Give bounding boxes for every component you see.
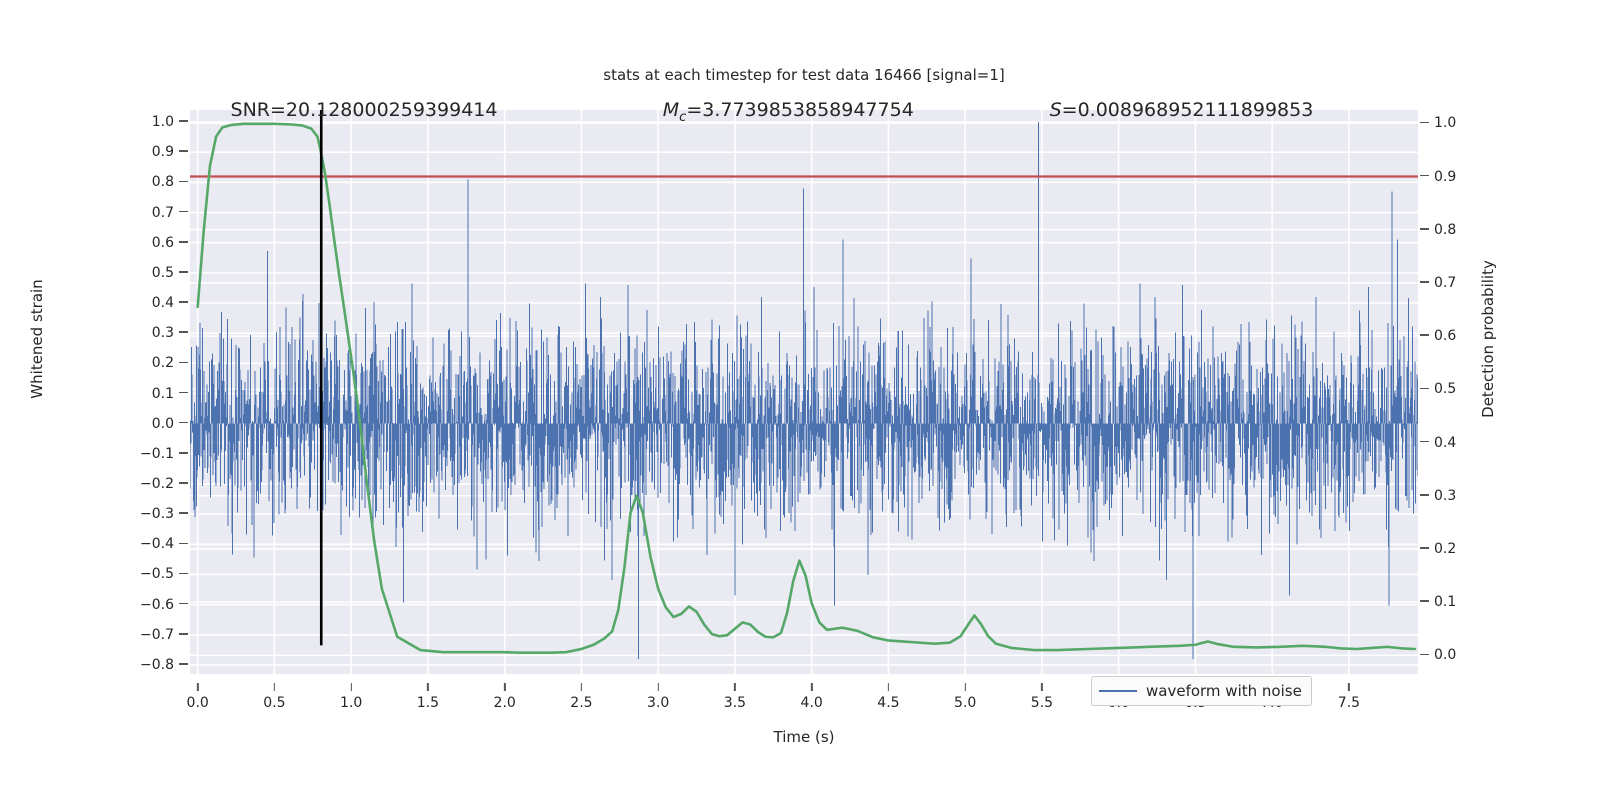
x-tick-5: 2.5: [570, 683, 592, 711]
y-tick-right-8: 0.2: [1420, 541, 1456, 557]
series-waveform-with-noise: [190, 122, 1418, 659]
y-axis-label-right: Detection probability: [1479, 239, 1497, 439]
x-tick-0: 0.0: [187, 683, 209, 711]
y-tick-right-3: 0.7: [1420, 275, 1456, 291]
annotation-snr: SNR=20.128000259399414: [231, 99, 498, 121]
x-tick-10: 5.0: [954, 683, 976, 711]
x-axis-label: Time (s): [190, 728, 1418, 746]
y-tick-right-9: 0.1: [1420, 594, 1456, 610]
x-tick-15: 7.5: [1338, 683, 1360, 711]
y-tick-left-1: 0.9: [152, 144, 188, 160]
y-tick-right-2: 0.8: [1420, 222, 1456, 238]
y-tick-left-18: −0.8: [140, 657, 188, 673]
x-tick-4: 2.0: [494, 683, 516, 711]
y-tick-left-15: −0.5: [140, 566, 188, 582]
x-tick-7: 3.5: [724, 683, 746, 711]
y-tick-left-16: −0.6: [140, 597, 188, 613]
x-tick-1: 0.5: [263, 683, 285, 711]
y-tick-left-6: 0.4: [152, 295, 188, 311]
figure: stats at each timestep for test data 164…: [0, 0, 1600, 800]
legend-swatch-waveform: [1099, 690, 1137, 693]
y-tick-left-4: 0.6: [152, 235, 188, 251]
y-tick-left-14: −0.4: [140, 536, 188, 552]
x-tick-2: 1.0: [340, 683, 362, 711]
y-tick-right-4: 0.6: [1420, 328, 1456, 344]
y-tick-left-10: 0.0: [152, 416, 188, 432]
plot-area: [190, 110, 1418, 674]
x-tick-3: 1.5: [417, 683, 439, 711]
y-tick-right-6: 0.4: [1420, 435, 1456, 451]
y-tick-left-8: 0.2: [152, 355, 188, 371]
x-tick-11: 5.5: [1031, 683, 1053, 711]
y-tick-left-0: 1.0: [152, 114, 188, 130]
y-tick-left-12: −0.2: [140, 476, 188, 492]
x-tick-9: 4.5: [877, 683, 899, 711]
y-tick-left-7: 0.3: [152, 325, 188, 341]
y-tick-left-3: 0.7: [152, 205, 188, 221]
y-tick-left-9: 0.1: [152, 386, 188, 402]
y-axis-label-left: Whitened strain: [28, 239, 46, 439]
y-tick-right-10: 0.0: [1420, 647, 1456, 663]
plot-canvas: [190, 110, 1418, 674]
y-tick-right-1: 0.9: [1420, 169, 1456, 185]
x-tick-8: 4.0: [801, 683, 823, 711]
annotation-mc: Mc=3.7739853858947754: [663, 99, 914, 125]
y-tick-left-2: 0.8: [152, 174, 188, 190]
y-tick-left-17: −0.7: [140, 627, 188, 643]
y-tick-left-13: −0.3: [140, 506, 188, 522]
y-tick-right-0: 1.0: [1420, 115, 1456, 131]
y-tick-left-11: −0.1: [140, 446, 188, 462]
y-tick-right-5: 0.5: [1420, 381, 1456, 397]
y-tick-right-7: 0.3: [1420, 488, 1456, 504]
x-tick-6: 3.0: [647, 683, 669, 711]
y-tick-left-5: 0.5: [152, 265, 188, 281]
legend: waveform with noise: [1091, 676, 1312, 706]
legend-label-waveform: waveform with noise: [1146, 682, 1302, 700]
annotation-s: S=0.008968952111899853: [1050, 99, 1314, 121]
chart-title: stats at each timestep for test data 164…: [190, 66, 1418, 84]
